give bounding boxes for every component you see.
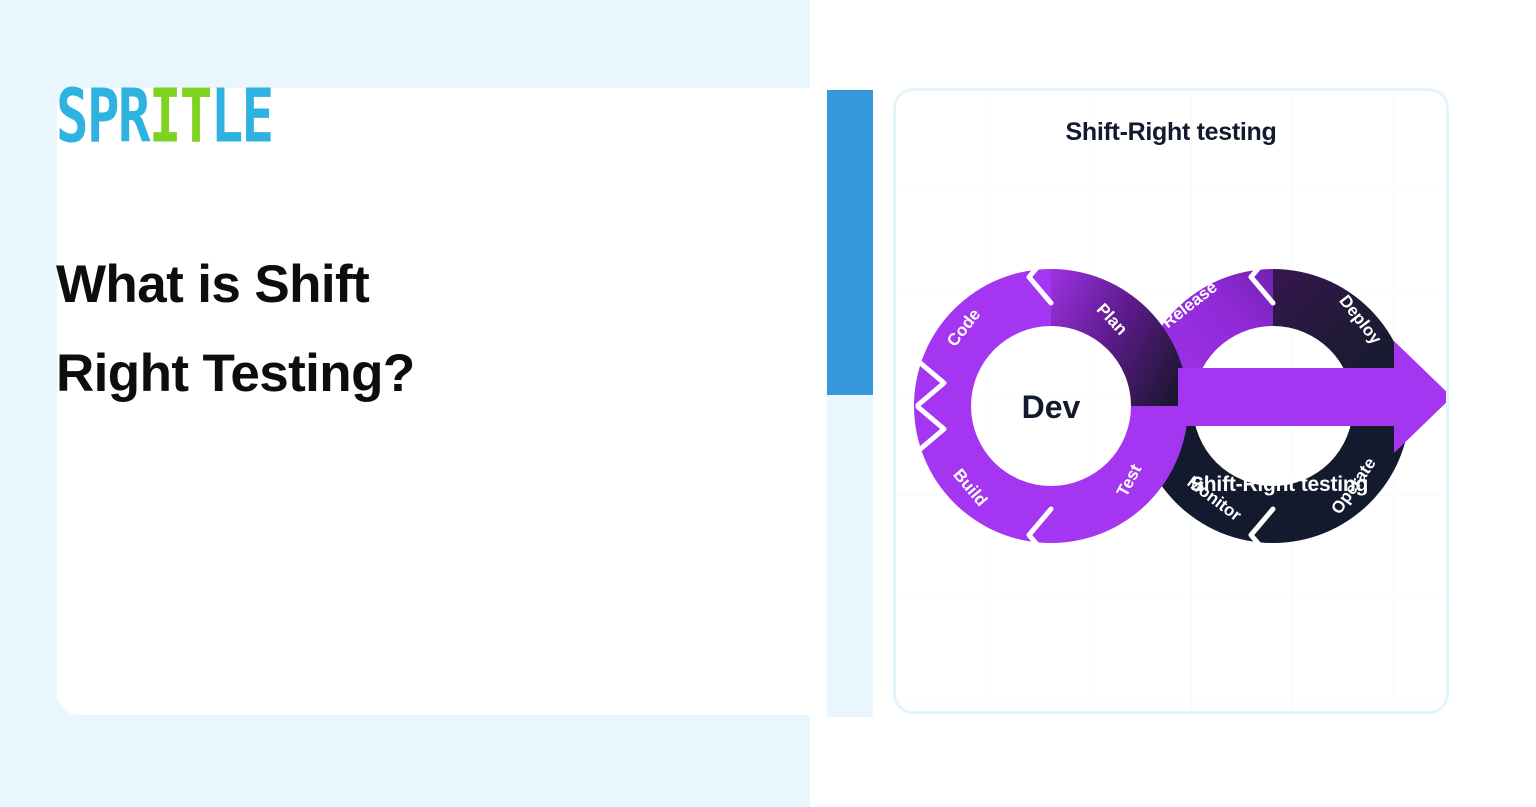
blue-accent-bar — [827, 90, 873, 395]
spritle-logo: SPRITLE — [56, 80, 273, 154]
dev-center-label: Dev — [1022, 389, 1081, 425]
logo-part-le: LE — [211, 73, 273, 159]
page-title: What is Shift Right Testing? — [56, 240, 616, 418]
page-title-line-2: Right Testing? — [56, 329, 616, 418]
devops-infinity-diagram: Code Build Test Plan Release Deploy Oper… — [896, 91, 1449, 714]
logo-part-spr: SPR — [56, 73, 149, 159]
blue-accent-bar-light — [827, 395, 873, 717]
infographic-panel: Shift-Right testing — [893, 88, 1449, 714]
page-title-line-1: What is Shift — [56, 240, 616, 329]
logo-part-it: IT — [149, 73, 211, 159]
